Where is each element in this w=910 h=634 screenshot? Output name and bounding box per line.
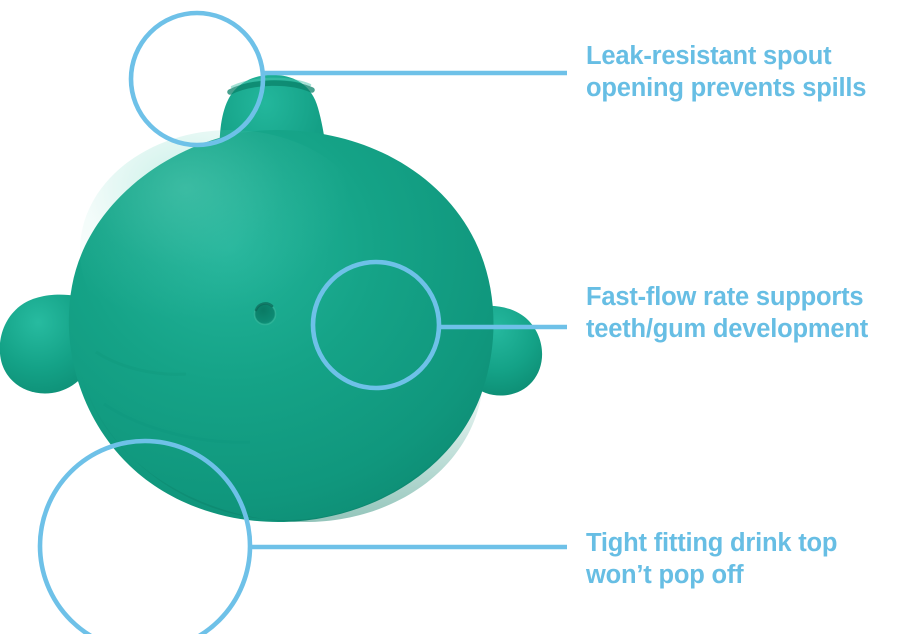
callout-label-leak-resistant-spout: Leak-resistant spout opening prevents sp… [586, 41, 906, 104]
callout-label-tight-fitting-drink-top: Tight fitting drink top won’t pop off [586, 528, 906, 591]
body-sheen [80, 130, 380, 370]
callout-label-fast-flow-rate: Fast-flow rate supports teeth/gum develo… [586, 282, 908, 345]
product-feature-infographic: Leak-resistant spout opening prevents sp… [0, 0, 910, 634]
callout-circle-1 [131, 13, 263, 145]
product-image [0, 75, 542, 522]
callout-1-annotation [131, 13, 567, 145]
